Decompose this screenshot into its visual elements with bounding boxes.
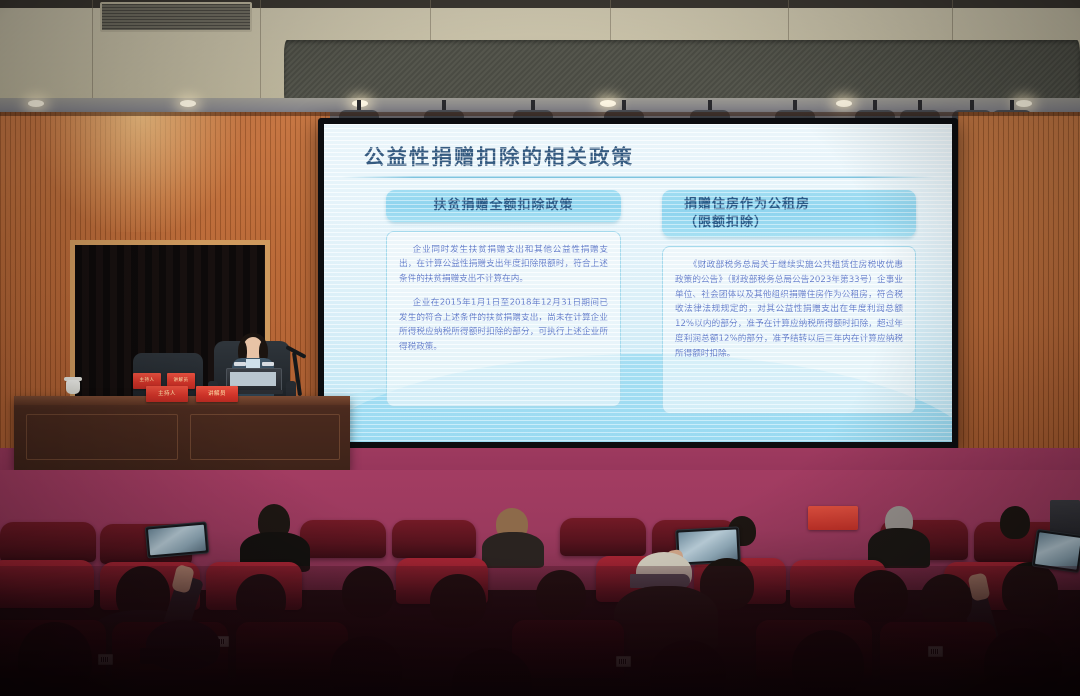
smartphone-camera[interactable] — [145, 521, 210, 558]
seat[interactable] — [392, 520, 476, 558]
right-panel-heading-line2: （限额扣除） — [684, 214, 908, 232]
audience-head — [1000, 506, 1030, 539]
audience-area — [0, 470, 1080, 696]
slide-left-column: 扶贫捐赠全额扣除政策 企业同时发生扶贫捐赠支出和其他公益性捐赠支出，在计算公益性… — [386, 190, 621, 407]
ceiling — [0, 0, 1080, 104]
speaker-dais — [14, 396, 350, 470]
nameplate-right: 讲解员 — [196, 386, 238, 402]
led-screen-frame: 公益性捐赠扣除的相关政策 扶贫捐赠全额扣除政策 企业同时发生扶贫捐赠支出和其他公… — [318, 118, 958, 448]
wall-right-wood-panel — [958, 112, 1080, 464]
acoustic-panel — [284, 40, 1080, 106]
seat[interactable] — [300, 520, 386, 558]
left-panel-body: 企业同时发生扶贫捐赠支出和其他公益性捐赠支出，在计算公益性捐赠支出年度扣除限额时… — [386, 231, 621, 407]
teacup — [66, 380, 80, 394]
seat[interactable] — [560, 518, 646, 556]
presentation-slide[interactable]: 公益性捐赠扣除的相关政策 扶贫捐赠全额扣除政策 企业同时发生扶贫捐赠支出和其他公… — [324, 124, 952, 442]
wall-top-rim — [0, 112, 1080, 116]
right-panel-body: 《财政部税务总局关于继续实施公共租赁住房税收优惠政策的公告》（财政部税务总局公告… — [662, 246, 916, 414]
audience-shoulders — [482, 532, 544, 568]
slide-title-divider — [342, 176, 934, 178]
wall-light-glow — [40, 112, 240, 232]
right-paragraph-1: 《财政部税务总局关于继续实施公共租赁住房税收优惠政策的公告》（财政部税务总局公告… — [675, 258, 903, 361]
right-panel-heading: 捐赠住房作为公租房 （限额扣除） — [662, 190, 916, 237]
foreground-shadow — [0, 566, 1080, 696]
conference-hall-scene: 主持人 讲解员 公益性捐赠扣除的相关政策 扶贫捐赠全额扣除政策 企业同时发生扶贫… — [0, 0, 1080, 696]
seat[interactable] — [0, 522, 96, 562]
nameplate-left: 主持人 — [146, 386, 188, 402]
slide-title: 公益性捐赠扣除的相关政策 — [364, 140, 634, 170]
left-panel-heading: 扶贫捐赠全额扣除政策 — [386, 190, 621, 222]
left-paragraph-2: 企业在2015年1月1日至2018年12月31日期间已发生的符合上述条件的扶贫捐… — [399, 296, 608, 355]
left-paragraph-1: 企业同时发生扶贫捐赠支出和其他公益性捐赠支出，在计算公益性捐赠支出年度扣除限额时… — [399, 243, 608, 287]
red-booklet — [808, 506, 858, 530]
slide-right-column: 捐赠住房作为公租房 （限额扣除） 《财政部税务总局关于继续实施公共租赁住房税收优… — [662, 190, 916, 414]
right-panel-heading-line1: 捐赠住房作为公租房 — [684, 196, 908, 214]
ceiling-vent-grille — [100, 2, 252, 32]
